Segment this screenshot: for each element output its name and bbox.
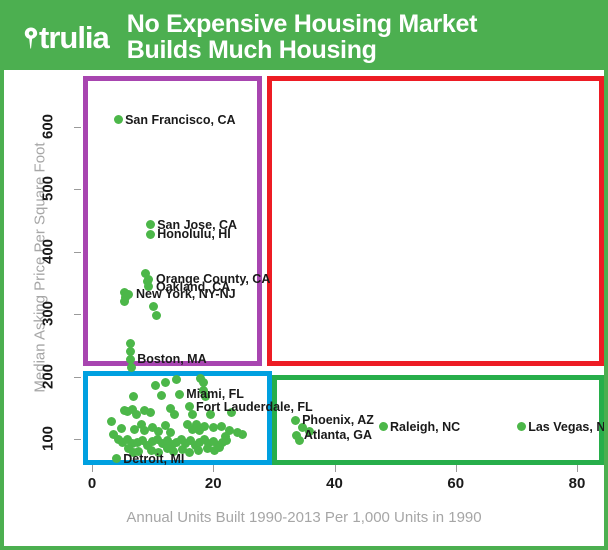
data-point-labeled bbox=[185, 402, 194, 411]
x-tick-label: 20 bbox=[193, 475, 233, 492]
x-tick bbox=[577, 465, 578, 472]
location-pin-icon bbox=[24, 27, 38, 47]
data-point-labeled bbox=[114, 115, 123, 124]
y-tick-label: 500 bbox=[40, 167, 57, 211]
data-point bbox=[146, 408, 155, 417]
x-tick-label: 60 bbox=[436, 475, 476, 492]
data-point bbox=[170, 410, 179, 419]
y-tick bbox=[74, 314, 81, 315]
data-point-label: Atlanta, GA bbox=[304, 428, 372, 442]
data-point-label: New York, NY-NJ bbox=[136, 287, 236, 301]
data-point-label: Honolulu, HI bbox=[157, 227, 231, 241]
data-point bbox=[194, 446, 203, 455]
y-tick bbox=[74, 252, 81, 253]
chart-header: trulia No Expensive Housing Market Build… bbox=[4, 4, 604, 70]
data-point-label: Boston, MA bbox=[137, 352, 206, 366]
data-point bbox=[215, 443, 224, 452]
data-point-label: Detroit, MI bbox=[123, 452, 184, 466]
y-tick bbox=[74, 377, 81, 378]
y-tick-label: 200 bbox=[40, 354, 57, 398]
x-tick bbox=[456, 465, 457, 472]
data-point-label: Las Vegas, NV bbox=[528, 420, 608, 434]
plot-area bbox=[83, 76, 604, 465]
data-point-label: Phoenix, AZ bbox=[302, 413, 374, 427]
data-point bbox=[149, 302, 158, 311]
y-tick-label: 100 bbox=[40, 417, 57, 461]
data-point-labeled bbox=[146, 230, 155, 239]
y-tick-label: 300 bbox=[40, 292, 57, 336]
data-point-labeled bbox=[291, 416, 300, 425]
data-point bbox=[152, 311, 161, 320]
data-point-label: San Francisco, CA bbox=[125, 113, 235, 127]
data-point-label: Raleigh, NC bbox=[390, 420, 460, 434]
y-tick bbox=[74, 439, 81, 440]
data-point bbox=[109, 430, 118, 439]
data-point bbox=[172, 375, 181, 384]
data-point-labeled bbox=[379, 422, 388, 431]
data-point-labeled bbox=[517, 422, 526, 431]
data-point bbox=[157, 391, 166, 400]
data-point bbox=[151, 381, 160, 390]
y-tick bbox=[74, 127, 81, 128]
x-tick bbox=[92, 465, 93, 472]
data-point bbox=[222, 436, 231, 445]
data-point-labeled bbox=[175, 390, 184, 399]
y-tick-label: 400 bbox=[40, 229, 57, 273]
x-tick-label: 80 bbox=[557, 475, 597, 492]
data-point-label: Fort Lauderdale, FL bbox=[196, 400, 313, 414]
chart-title: No Expensive Housing Market Builds Much … bbox=[127, 11, 527, 64]
trulia-logo: trulia bbox=[24, 22, 109, 53]
chart-page: trulia No Expensive Housing Market Build… bbox=[0, 0, 608, 550]
y-tick-label: 600 bbox=[40, 105, 57, 149]
brand-name: trulia bbox=[39, 22, 109, 53]
data-point bbox=[238, 430, 247, 439]
red-quadrant bbox=[267, 76, 604, 366]
x-tick bbox=[213, 465, 214, 472]
x-tick-label: 0 bbox=[72, 475, 112, 492]
x-axis-label: Annual Units Built 1990-2013 Per 1,000 U… bbox=[4, 509, 604, 526]
x-tick-label: 40 bbox=[315, 475, 355, 492]
data-point bbox=[107, 417, 116, 426]
data-point bbox=[185, 448, 194, 457]
data-point bbox=[166, 428, 175, 437]
y-tick bbox=[74, 189, 81, 190]
data-point-labeled bbox=[126, 355, 135, 364]
x-tick bbox=[335, 465, 336, 472]
